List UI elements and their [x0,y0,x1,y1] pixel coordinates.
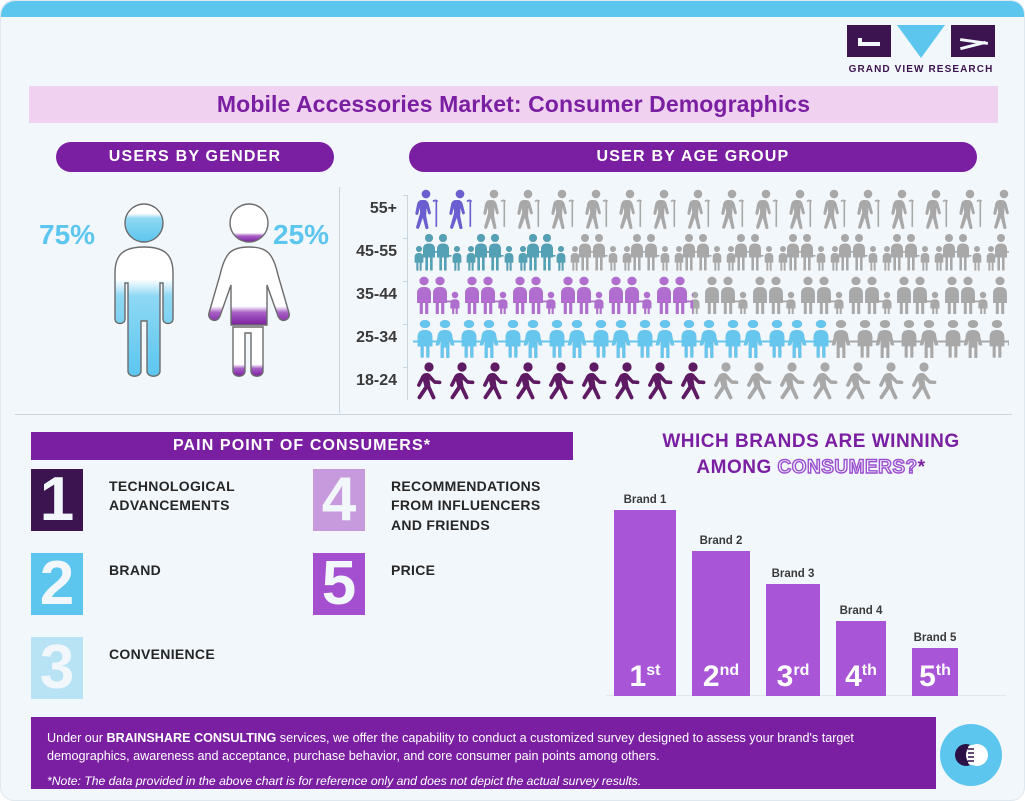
horizontal-divider [15,414,1012,415]
pain-point-item: 3CONVENIENCE [31,637,215,699]
bar-category-label: Brand 4 [840,605,883,617]
title-solid-part: AMONG [696,457,777,478]
age-row-label: 35-44 [349,286,407,304]
gender-chart: 75% 25% [31,191,336,406]
footer-highlight: BRAINSHARE CONSULTING [107,731,277,745]
axis-tick [403,324,408,325]
age-row: 18-24 [349,359,1009,402]
pain-point-label: PRICE [391,553,435,580]
bar: 5th [912,648,958,696]
age-row: 25-34 [349,316,1009,359]
page-title-band: Mobile Accessories Market: Consumer Demo… [29,86,998,123]
pictogram-filled [413,318,830,358]
pain-point-number-badge: 2 [31,553,83,615]
axis-tick [403,367,408,368]
bar: 2nd [692,551,750,696]
section-header-users-by-gender: USERS BY GENDER [56,142,334,172]
pain-point-number-badge: 4 [313,469,365,531]
pictogram-unfilled [413,189,1009,229]
pictogram-strip [413,189,1009,229]
pictogram-filled [413,275,693,315]
pain-point-item: 1TECHNOLOGICALADVANCEMENTS [31,469,235,531]
vertical-divider [339,187,340,413]
axis-tick [403,238,408,239]
brand-chart-title: WHICH BRANDS ARE WINNING AMONG CONSUMERS… [601,429,1021,480]
axis-tick [403,195,408,196]
pain-point-label: BRAND [109,553,161,580]
grand-view-research-logo: GRAND VIEW RESEARCH [846,25,996,75]
pictogram-filled [413,232,568,272]
brand-bar-chart: Brand 11stBrand 22ndBrand 33rdBrand 44th… [606,481,1006,696]
pain-point-item: 4RECOMMENDATIONSFROM INFLUENCERSAND FRIE… [313,469,541,535]
pictogram-strip [413,361,1009,401]
logo-r-icon [951,25,995,57]
age-row: 45-55 [349,230,1009,273]
brand-chart-title-line2: AMONG CONSUMERS?* [601,455,1021,481]
bar-category-label: Brand 2 [700,535,743,547]
pain-point-label: CONVENIENCE [109,637,215,664]
pictogram-strip [413,275,1009,315]
pain-point-number: 4 [313,469,365,531]
logo-marks [846,25,996,61]
male-percentage-label: 75% [39,219,95,251]
section-header-pain-points: PAIN POINT OF CONSUMERS* [31,432,573,460]
age-row-label: 18-24 [349,372,407,390]
pain-point-number-badge: 3 [31,637,83,699]
footer-text-before: Under our [47,731,107,745]
male-figure-icon [101,201,187,386]
pain-point-item: 5PRICE [313,553,435,615]
bar-rank-label: 4th [836,662,886,692]
pictogram-strip [413,318,1009,358]
bar-rank-label: 3rd [766,662,820,692]
age-row-label: 25-34 [349,329,407,347]
footer-note: *Note: The data provided in the above ch… [47,773,920,791]
brand-chart-title-line1: WHICH BRANDS ARE WINNING [601,429,1021,455]
axis-tick [403,281,408,282]
bar-rank-label: 5th [912,662,958,692]
pain-point-number: 5 [313,553,365,615]
pain-point-label: RECOMMENDATIONSFROM INFLUENCERSAND FRIEN… [391,469,541,535]
pain-point-item: 2BRAND [31,553,161,615]
top-accent-bar [1,1,1025,17]
pain-point-number: 3 [31,637,83,699]
title-asterisk: * [918,457,926,478]
bar-category-label: Brand 1 [624,494,667,506]
pain-point-number-badge: 5 [313,553,365,615]
logo-v-triangle-icon [897,25,945,58]
infographic-page: GRAND VIEW RESEARCH Mobile Accessories M… [0,0,1025,801]
section-header-user-by-age-group: USER BY AGE GROUP [409,142,977,172]
bar: 4th [836,621,886,696]
bar: 1st [614,510,676,696]
pain-point-number: 2 [31,553,83,615]
age-row: 35-44 [349,273,1009,316]
pictogram-filled [413,361,711,401]
pain-point-number-badge: 1 [31,469,83,531]
logo-g-icon [847,25,891,57]
bar-column: Brand 33rd [766,568,820,696]
title-hollow-part: CONSUMERS? [778,457,918,478]
age-group-chart: 55+ [349,187,1009,413]
age-row-label: 45-55 [349,243,407,261]
pain-point-number: 1 [31,469,83,531]
bar-category-label: Brand 3 [772,568,815,580]
pain-point-label: TECHNOLOGICALADVANCEMENTS [109,469,235,516]
bar-category-label: Brand 5 [914,632,957,644]
bar-rank-label: 2nd [692,662,750,692]
pictogram-strip [413,232,1009,272]
logo-wordmark: GRAND VIEW RESEARCH [846,64,996,75]
footer-callout: Under our BRAINSHARE CONSULTING services… [31,717,936,789]
footer-main-text: Under our BRAINSHARE CONSULTING services… [47,729,920,766]
bar-column: Brand 22nd [692,535,750,696]
brainshare-logo-icon [940,724,1002,786]
bar: 3rd [766,584,820,696]
age-rows: 55+ [349,187,1009,402]
female-figure-icon [201,201,297,386]
age-row-label: 55+ [349,200,407,218]
pictogram-filled [413,189,479,229]
bar-rank-label: 1st [614,662,676,692]
age-row: 55+ [349,187,1009,230]
page-title: Mobile Accessories Market: Consumer Demo… [217,91,810,118]
bar-column: Brand 11st [614,494,676,696]
bar-column: Brand 44th [836,605,886,696]
bar-column: Brand 55th [912,632,958,696]
